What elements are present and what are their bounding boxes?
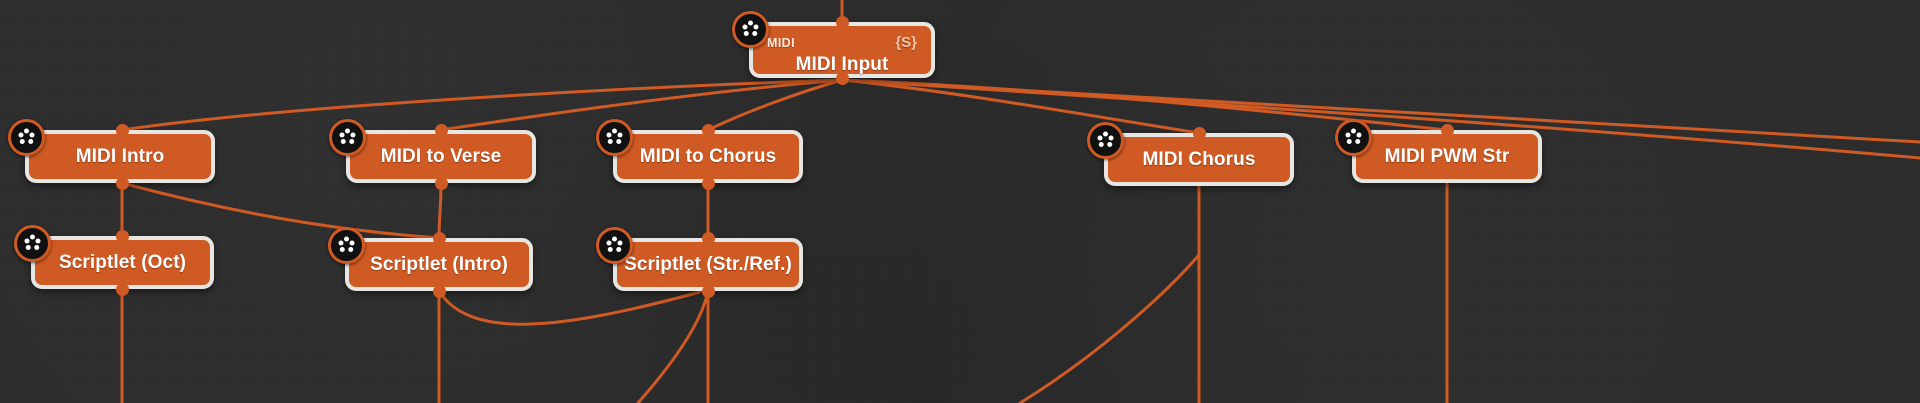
node-port-top[interactable] [702, 124, 715, 137]
node-title: MIDI Chorus [1143, 149, 1256, 171]
node-port-bottom[interactable] [702, 285, 715, 298]
wire[interactable] [842, 80, 1199, 133]
midi-din-icon[interactable] [14, 225, 51, 262]
midi-din-icon[interactable] [1335, 119, 1372, 156]
wire[interactable] [441, 80, 842, 130]
node-port-top[interactable] [116, 124, 129, 137]
wire[interactable] [439, 291, 700, 324]
node-midi-to-chorus[interactable]: MIDI to Chorus [613, 130, 803, 183]
midi-din-icon[interactable] [328, 227, 365, 264]
node-title: Scriptlet (Intro) [370, 254, 508, 276]
node-midi-pwm-str[interactable]: MIDI PWM Str [1352, 130, 1542, 183]
node-script-flag[interactable]: {S} [895, 34, 917, 51]
node-port-bottom[interactable] [116, 177, 129, 190]
midi-din-icon[interactable] [732, 11, 769, 48]
node-port-bottom[interactable] [702, 177, 715, 190]
node-port-top[interactable] [1441, 124, 1454, 137]
midi-din-icon[interactable] [329, 119, 366, 156]
node-kind-label: MIDI [767, 36, 795, 50]
node-midi-to-verse[interactable]: MIDI to Verse [346, 130, 536, 183]
midi-din-icon[interactable] [596, 119, 633, 156]
midi-din-icon[interactable] [8, 119, 45, 156]
node-port-bottom[interactable] [433, 285, 446, 298]
node-port-bottom[interactable] [116, 283, 129, 296]
node-midi-input[interactable]: MIDI{S}MIDI Input [749, 22, 935, 78]
node-scriptlet-intro[interactable]: Scriptlet (Intro) [345, 238, 533, 291]
node-port-top[interactable] [433, 232, 446, 245]
wire[interactable] [638, 291, 708, 403]
wire-layer [0, 0, 1920, 403]
node-title: MIDI to Verse [381, 146, 502, 168]
node-scriptlet-str-ref[interactable]: Scriptlet (Str./Ref.) [613, 238, 803, 291]
node-port-top[interactable] [116, 230, 129, 243]
node-title: MIDI Intro [76, 146, 165, 168]
node-title: MIDI to Chorus [640, 146, 777, 168]
wire[interactable] [439, 183, 441, 238]
node-port-top[interactable] [1193, 127, 1206, 140]
node-port-top[interactable] [702, 232, 715, 245]
wire[interactable] [122, 183, 439, 238]
node-port-top[interactable] [836, 16, 849, 29]
node-scriptlet-oct[interactable]: Scriptlet (Oct) [31, 236, 214, 289]
node-midi-intro[interactable]: MIDI Intro [25, 130, 215, 183]
node-title: Scriptlet (Str./Ref.) [624, 254, 792, 276]
midi-din-icon[interactable] [596, 227, 633, 264]
wire[interactable] [122, 80, 842, 130]
midi-din-icon[interactable] [1087, 122, 1124, 159]
node-port-bottom[interactable] [435, 177, 448, 190]
node-graph-canvas[interactable]: MIDI{S}MIDI InputMIDI IntroMIDI to Verse… [0, 0, 1920, 403]
wire[interactable] [708, 80, 842, 130]
node-header: MIDI{S} [753, 32, 931, 51]
wire[interactable] [1020, 255, 1199, 403]
node-midi-chorus[interactable]: MIDI Chorus [1104, 133, 1294, 186]
node-port-top[interactable] [435, 124, 448, 137]
node-title: MIDI PWM Str [1385, 146, 1510, 168]
node-port-bottom[interactable] [836, 72, 849, 85]
node-title: Scriptlet (Oct) [59, 252, 186, 274]
